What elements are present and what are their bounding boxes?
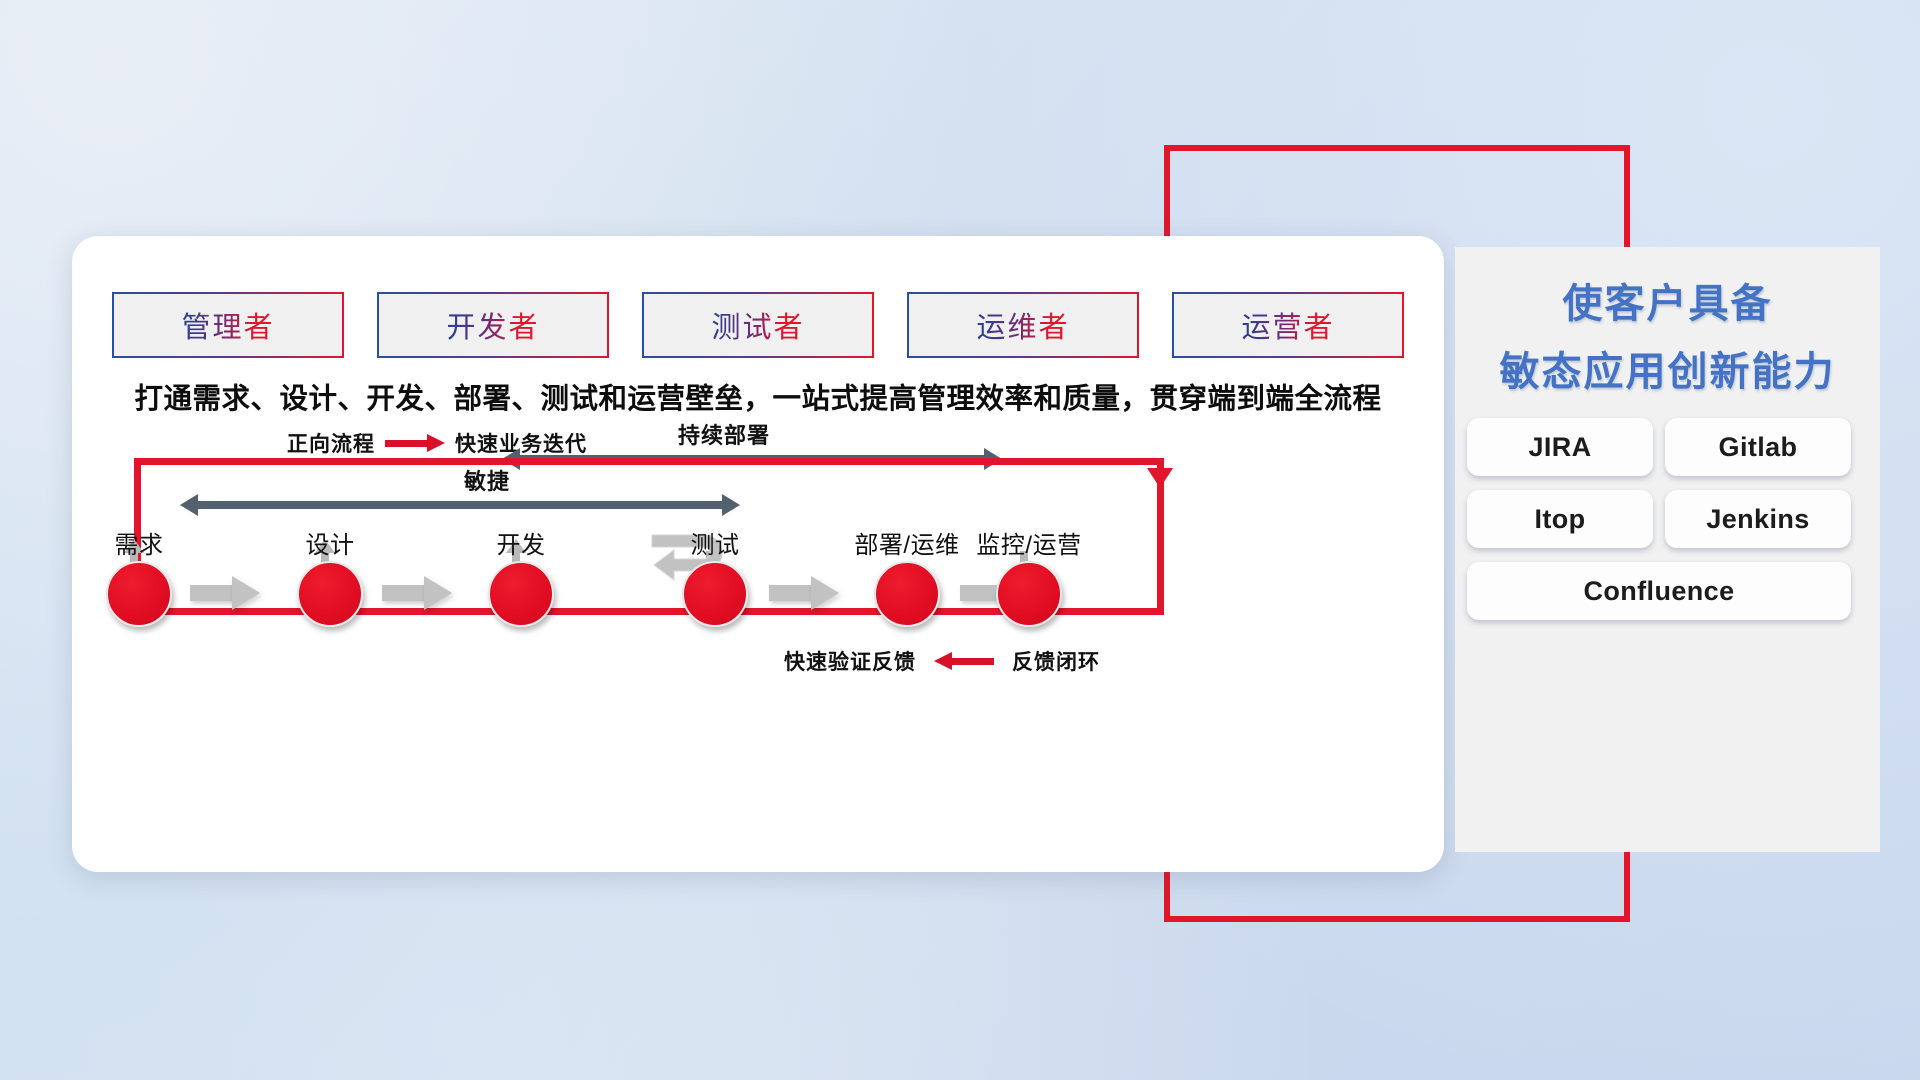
arrow-left-red-icon <box>934 652 994 670</box>
role-box-business-ops[interactable]: 运营者 <box>1172 292 1404 358</box>
panel-title-line-2: 敏态应用创新能力 <box>1455 339 1880 397</box>
stage-label: 设计 <box>306 525 355 560</box>
role-label: 测试者 <box>711 304 804 346</box>
stage-dot <box>874 561 940 627</box>
main-diagram-card: 管理者 开发者 测试者 运维者 运营者 打通需求、设计、开发、部署、测试和运营壁… <box>72 236 1444 872</box>
band-label-continuous-deployment: 持续部署 <box>678 418 770 450</box>
stage-design[interactable]: 设计 <box>297 561 363 627</box>
red-loop-arrowhead-down <box>1147 468 1173 488</box>
tool-chip-gitlab[interactable]: Gitlab <box>1665 418 1851 476</box>
stage-dot <box>682 561 748 627</box>
tool-chip-jira[interactable]: JIRA <box>1467 418 1653 476</box>
role-label: 开发者 <box>446 304 539 346</box>
stage-development[interactable]: 开发 <box>488 561 554 627</box>
legend-feedback-right-label: 反馈闭环 <box>1012 646 1100 676</box>
description-text: 打通需求、设计、开发、部署、测试和运营壁垒，一站式提高管理效率和质量，贯穿端到端… <box>72 376 1444 417</box>
stage-label: 开发 <box>497 525 546 560</box>
stage-monitor-operate[interactable]: 监控/运营 <box>996 561 1062 627</box>
stage-requirements[interactable]: 需求 <box>106 561 172 627</box>
arrow-right-red-icon <box>385 434 445 452</box>
stage-dot <box>488 561 554 627</box>
role-box-tester[interactable]: 测试者 <box>642 292 874 358</box>
tools-panel: 使客户具备 敏态应用创新能力 JIRA Gitlab Itop Jenkins … <box>1455 247 1880 852</box>
panel-title-line-1: 使客户具备 <box>1455 271 1880 329</box>
role-box-row: 管理者 开发者 测试者 运维者 运营者 <box>112 292 1404 360</box>
tool-chip-confluence[interactable]: Confluence <box>1467 562 1851 620</box>
stage-dot <box>996 561 1062 627</box>
grey-arrow-2-icon <box>382 576 452 610</box>
stage-deploy-ops[interactable]: 部署/运维 <box>874 561 940 627</box>
legend-feedback-loop: 快速验证反馈 反馈闭环 <box>784 646 1100 676</box>
stage-dot <box>297 561 363 627</box>
tool-chip-jenkins[interactable]: Jenkins <box>1665 490 1851 548</box>
tool-chip-list: JIRA Gitlab Itop Jenkins Confluence <box>1467 418 1868 620</box>
role-label: 运维者 <box>976 304 1069 346</box>
stage-label: 部署/运维 <box>854 525 959 560</box>
stage-label: 需求 <box>115 525 164 560</box>
grey-arrow-1-icon <box>190 576 260 610</box>
role-box-developer[interactable]: 开发者 <box>377 292 609 358</box>
role-label: 运营者 <box>1241 304 1334 346</box>
red-loop-rail-top <box>134 458 1164 465</box>
stage-label: 测试 <box>691 525 740 560</box>
stage-dot <box>106 561 172 627</box>
role-box-operations[interactable]: 运维者 <box>907 292 1139 358</box>
role-label: 管理者 <box>181 304 274 346</box>
double-arrow-agile-icon <box>180 494 740 516</box>
role-box-manager[interactable]: 管理者 <box>112 292 344 358</box>
legend-forward-left-label: 正向流程 <box>287 428 375 458</box>
band-label-agile: 敏捷 <box>464 464 510 496</box>
legend-feedback-left-label: 快速验证反馈 <box>784 646 916 676</box>
stage-testing[interactable]: 测试 <box>682 561 748 627</box>
grey-arrow-3-icon <box>769 576 839 610</box>
stage-label: 监控/运营 <box>976 525 1081 560</box>
tool-chip-itop[interactable]: Itop <box>1467 490 1653 548</box>
